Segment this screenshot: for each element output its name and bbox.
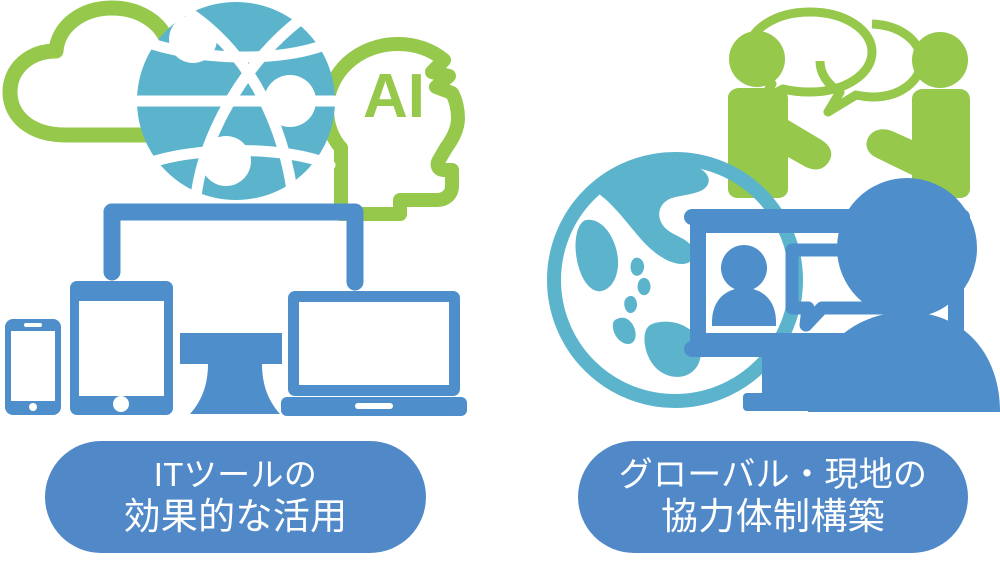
tablet-icon bbox=[70, 281, 173, 415]
panel-it-tools: AI bbox=[0, 0, 500, 563]
network-node bbox=[201, 136, 251, 186]
network-node bbox=[169, 15, 217, 63]
panel-global-collaboration: グローバル・現地の 協力体制構築 bbox=[500, 0, 1000, 563]
label-it-tools-line2: 効果的な活用 bbox=[123, 495, 347, 539]
infographic-canvas: AI bbox=[0, 0, 1000, 563]
label-it-tools-line1: ITツールの bbox=[154, 456, 317, 495]
label-global-collaboration: グローバル・現地の 協力体制構築 bbox=[578, 441, 968, 553]
ai-label: AI bbox=[363, 62, 425, 131]
label-it-tools: ITツールの 効果的な活用 bbox=[45, 441, 426, 553]
smartphone-icon bbox=[5, 319, 61, 415]
network-node bbox=[264, 75, 316, 127]
person-green-right-icon bbox=[866, 32, 970, 198]
it-tools-illustration: AI bbox=[0, 0, 500, 440]
ai-head-icon: AI bbox=[327, 44, 458, 214]
video-call-participant-icon bbox=[712, 245, 776, 326]
laptop-icon bbox=[281, 291, 467, 416]
label-global-collaboration-line1: グローバル・現地の bbox=[619, 455, 928, 495]
label-global-collaboration-line2: 協力体制構築 bbox=[661, 495, 885, 539]
global-collaboration-illustration bbox=[500, 0, 1000, 440]
network-globe-icon bbox=[137, 2, 335, 200]
